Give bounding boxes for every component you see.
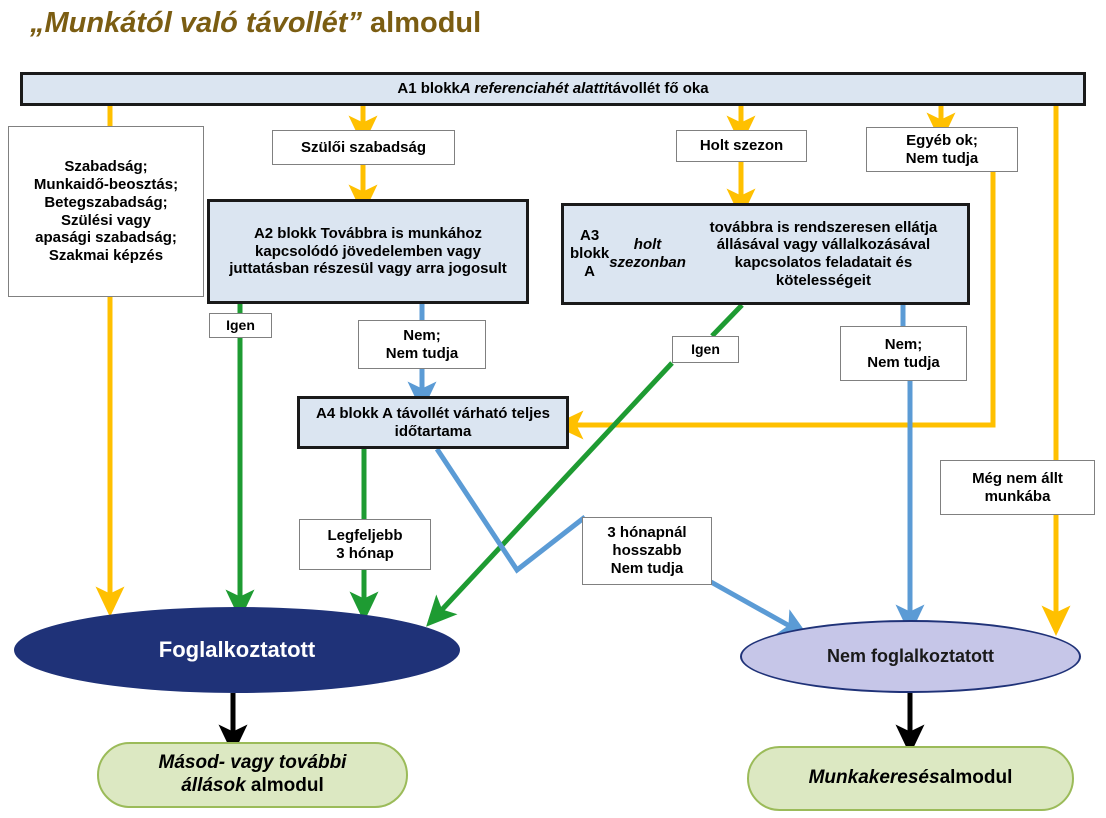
node-yes-a3-label: Igen <box>691 341 720 358</box>
node-a1-prefix: A1 blokk <box>397 80 460 98</box>
edge-a3-to-yes-a3 <box>712 305 742 336</box>
node-a4-block[interactable]: A4 blokk A távollét várható teljes időta… <box>297 396 569 449</box>
node-max-3-months-line-1: Legfeljebb <box>327 527 402 545</box>
node-other-reason-line-1: Egyéb ok; <box>906 132 978 150</box>
node-a2-block[interactable]: A2 blokk Továbbra is munkához kapcsolódó… <box>207 199 529 304</box>
node-a1-italic: A referenciahét alatti <box>460 80 608 98</box>
node-second-job-module-line-1: Másod- vagy további <box>159 752 347 775</box>
node-employed-label: Foglalkoztatott <box>159 637 315 663</box>
node-yes-a2[interactable]: Igen <box>209 313 272 338</box>
node-not-employed-label: Nem foglalkoztatott <box>827 646 994 667</box>
node-a3-italic: holt szezonban <box>609 236 686 271</box>
node-a3-suffix: továbbra is rendszeresen ellátja állásáv… <box>686 219 961 290</box>
node-longer-3-months-line-1: 3 hónapnál <box>607 524 686 542</box>
node-job-search-module[interactable]: Munkakeresés almodul <box>747 746 1074 811</box>
page-title-plain: almodul <box>362 7 481 40</box>
node-parental-leave[interactable]: Szülői szabadság <box>272 130 455 165</box>
edge-a4-to-longer-3-months <box>437 449 585 570</box>
node-reasons-left-line-4: Szülési vagy <box>61 212 151 230</box>
node-second-job-module-line-2: állások almodul <box>181 775 324 798</box>
node-no-a2-line-2: Nem tudja <box>386 345 459 363</box>
node-parental-leave-label: Szülői szabadság <box>301 139 426 157</box>
node-second-job-module-plain-tail: almodul <box>246 775 324 796</box>
node-second-job-module-italic-tail: állások <box>181 775 245 796</box>
node-longer-3-months-line-2: hosszabb <box>612 542 681 560</box>
page-title-quoted: „Munkától való távollét” <box>30 7 362 40</box>
node-other-reason[interactable]: Egyéb ok; Nem tudja <box>866 127 1018 172</box>
page-title: „Munkától való távollét” almodul <box>30 0 930 46</box>
node-job-search-module-plain: almodul <box>940 767 1013 790</box>
node-reasons-left-line-6: Szakmai képzés <box>49 247 163 265</box>
node-no-a2-line-1: Nem; <box>403 327 441 345</box>
node-a2-label: A2 blokk Továbbra is munkához kapcsolódó… <box>216 225 520 278</box>
node-no-a3[interactable]: Nem; Nem tudja <box>840 326 967 381</box>
node-reasons-left-line-1: Szabadság; <box>64 158 147 176</box>
node-longer-3-months-line-3: Nem tudja <box>611 560 684 578</box>
node-max-3-months-line-2: 3 hónap <box>336 545 394 563</box>
node-a4-label: A4 blokk A távollét várható teljes időta… <box>306 405 560 440</box>
node-a1-block[interactable]: A1 blokk A referenciahét alatti távollét… <box>20 72 1086 106</box>
node-reasons-left-line-3: Betegszabadság; <box>44 194 167 212</box>
node-employed[interactable]: Foglalkoztatott <box>14 607 460 693</box>
node-reasons-left-line-5: apasági szabadság; <box>35 229 177 247</box>
node-reasons-left-line-2: Munkaidő-beosztás; <box>34 176 178 194</box>
diagram-canvas: „Munkától való távollét” almodul <box>0 0 1106 818</box>
node-job-search-module-italic: Munkakeresés <box>809 767 940 790</box>
node-a1-suffix: távollét fő oka <box>608 80 709 98</box>
node-reasons-left[interactable]: Szabadság; Munkaidő-beosztás; Betegszaba… <box>8 126 204 297</box>
node-no-a3-line-1: Nem; <box>885 336 923 354</box>
node-second-job-module[interactable]: Másod- vagy további állások almodul <box>97 742 408 808</box>
node-not-started[interactable]: Még nem állt munkába <box>940 460 1095 515</box>
node-dead-season-label: Holt szezon <box>700 137 783 155</box>
edge-longer-3-months-to-not-employed <box>711 582 795 629</box>
node-no-a2[interactable]: Nem; Nem tudja <box>358 320 486 369</box>
node-yes-a2-label: Igen <box>226 317 255 334</box>
node-no-a3-line-2: Nem tudja <box>867 354 940 372</box>
node-longer-3-months[interactable]: 3 hónapnál hosszabb Nem tudja <box>582 517 712 585</box>
node-other-reason-line-2: Nem tudja <box>906 150 979 168</box>
node-yes-a3[interactable]: Igen <box>672 336 739 363</box>
node-not-employed[interactable]: Nem foglalkoztatott <box>740 620 1081 693</box>
node-not-started-line-2: munkába <box>985 488 1051 506</box>
node-not-started-line-1: Még nem állt <box>972 470 1063 488</box>
node-a3-block[interactable]: A3 blokk A holt szezonban továbbra is re… <box>561 203 970 305</box>
node-a3-prefix: A3 blokk A <box>570 227 609 280</box>
node-max-3-months[interactable]: Legfeljebb 3 hónap <box>299 519 431 570</box>
node-dead-season[interactable]: Holt szezon <box>676 130 807 162</box>
